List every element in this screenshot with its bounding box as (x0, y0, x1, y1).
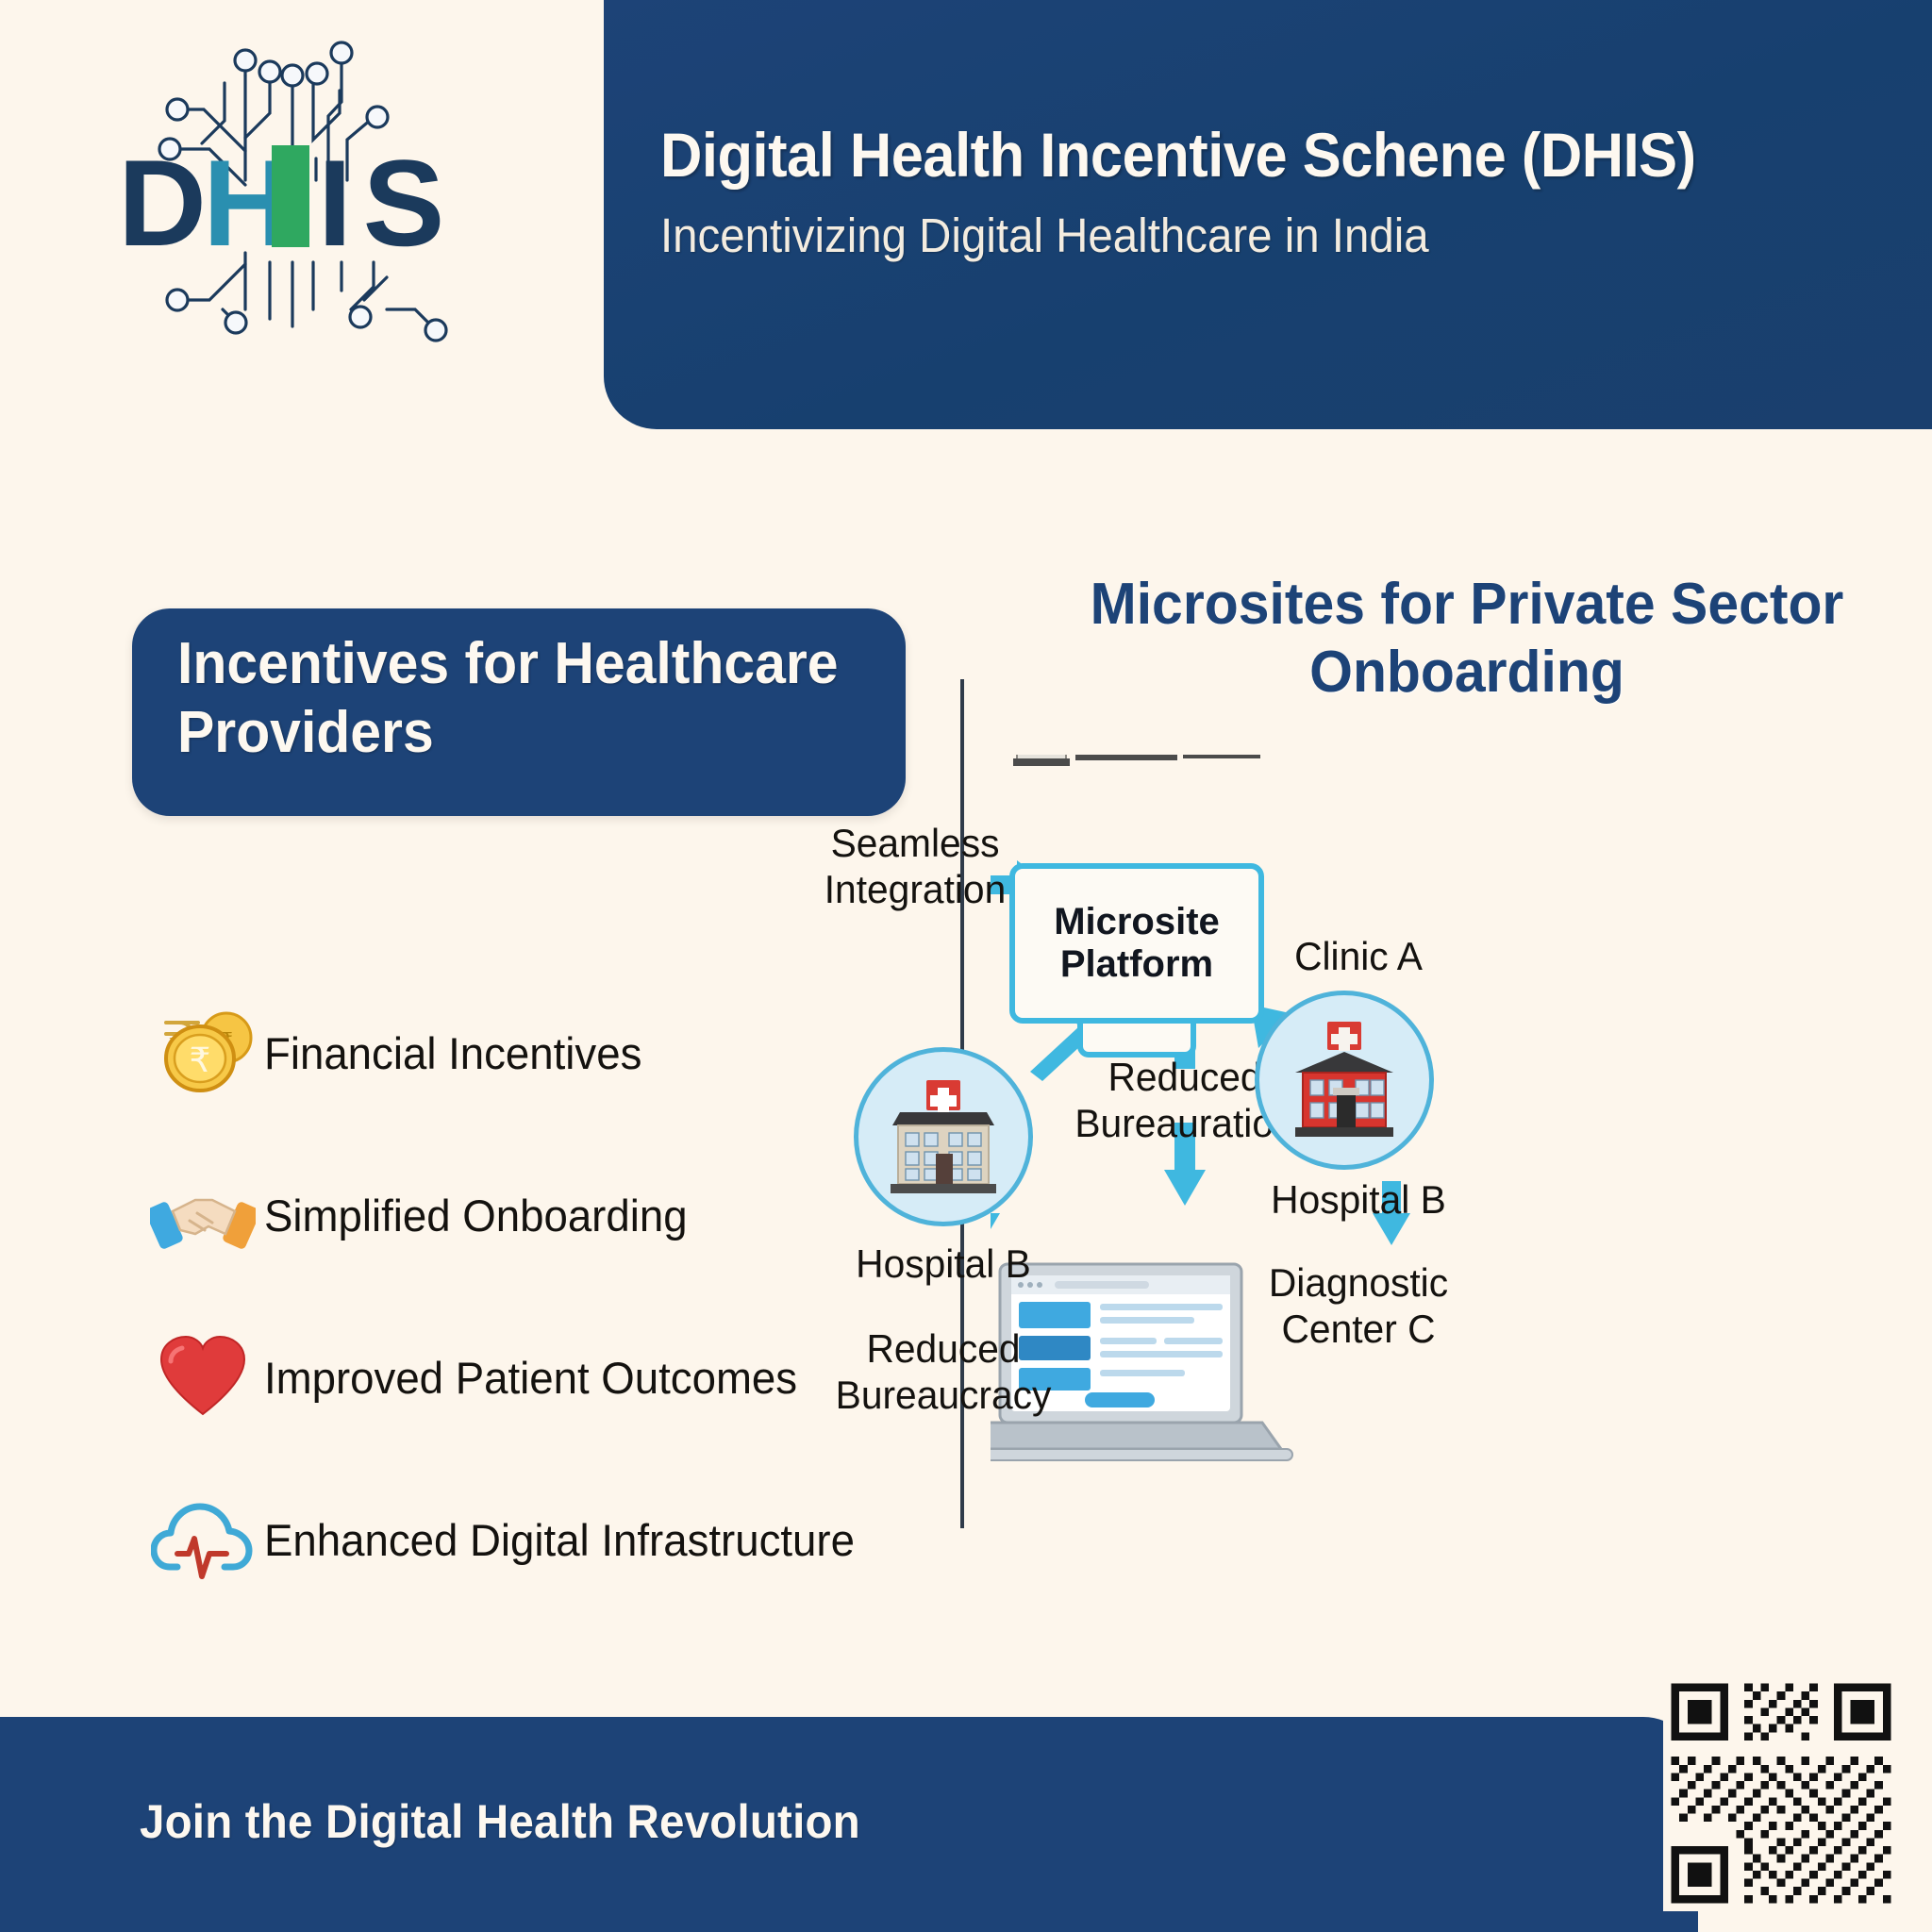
handshake-icon (142, 1158, 264, 1272)
header-text-group: Digital Health Incentive Schene (DHIS) I… (660, 123, 1906, 261)
buildings-cluster (1011, 755, 1264, 766)
microsites-heading: Microsites for Private Sector Onboarding (1050, 571, 1884, 707)
node-label-hospital-b-left: Hospital B (852, 1241, 1035, 1288)
svg-text:₹: ₹ (190, 1041, 211, 1080)
rupee-coin-icon: ₹ ₹ (142, 996, 264, 1109)
list-item: ₹ ₹ Financial Incentives (142, 972, 972, 1134)
incentives-heading-box: Incentives for Healthcare Providers (132, 608, 906, 816)
incentives-heading-label: Incentives for Healthcare Providers (177, 629, 841, 767)
list-item-label: Simplified Onboarding (264, 1190, 688, 1241)
page-subtitle: Incentivizing Digital Healthcare in Indi… (660, 210, 1819, 261)
footer-cta: Join the Digital Health Revolution (140, 1794, 860, 1849)
qr-code-icon[interactable] (1658, 1675, 1904, 1911)
list-item: Enhanced Digital Infrastructure (142, 1458, 972, 1621)
svg-text:S: S (363, 134, 445, 272)
page-title: Digital Health Incentive Schene (DHIS) (660, 123, 1819, 188)
heart-icon (142, 1321, 264, 1434)
microsite-platform-box: Microsite Platform (1009, 863, 1264, 1024)
list-item-label: Financial Incentives (264, 1027, 641, 1079)
platform-stand (1077, 1024, 1196, 1058)
list-item: Simplified Onboarding (142, 1134, 972, 1296)
node-sublabel-reduced-bureaucracy: Reduced Bureaucracy (829, 1326, 1058, 1418)
infographic-page: D H I S Digital Health Incentive Schene … (0, 0, 1932, 1932)
svg-text:D: D (118, 134, 207, 272)
node-label-hospital-b-right: Hospital B (1244, 1177, 1474, 1224)
svg-text:I: I (318, 134, 352, 272)
node-label-clinic-a: Clinic A (1244, 934, 1474, 980)
microsite-platform-label: Microsite Platform (1015, 901, 1258, 986)
list-item-label: Improved Patient Outcomes (264, 1352, 797, 1404)
node-hospital-b-left (854, 1047, 1033, 1226)
incentives-list: ₹ ₹ Financial Incentives Simplified Onbo… (142, 972, 972, 1621)
cloud-pulse-icon (142, 1483, 264, 1596)
dhis-logo: D H I S (104, 26, 481, 347)
list-item-label: Enhanced Digital Infrastructure (264, 1514, 855, 1566)
node-clinic-a-right (1255, 991, 1434, 1170)
node-sublabel-diagnostic-center-c: Diagnostic Center C (1230, 1260, 1487, 1352)
